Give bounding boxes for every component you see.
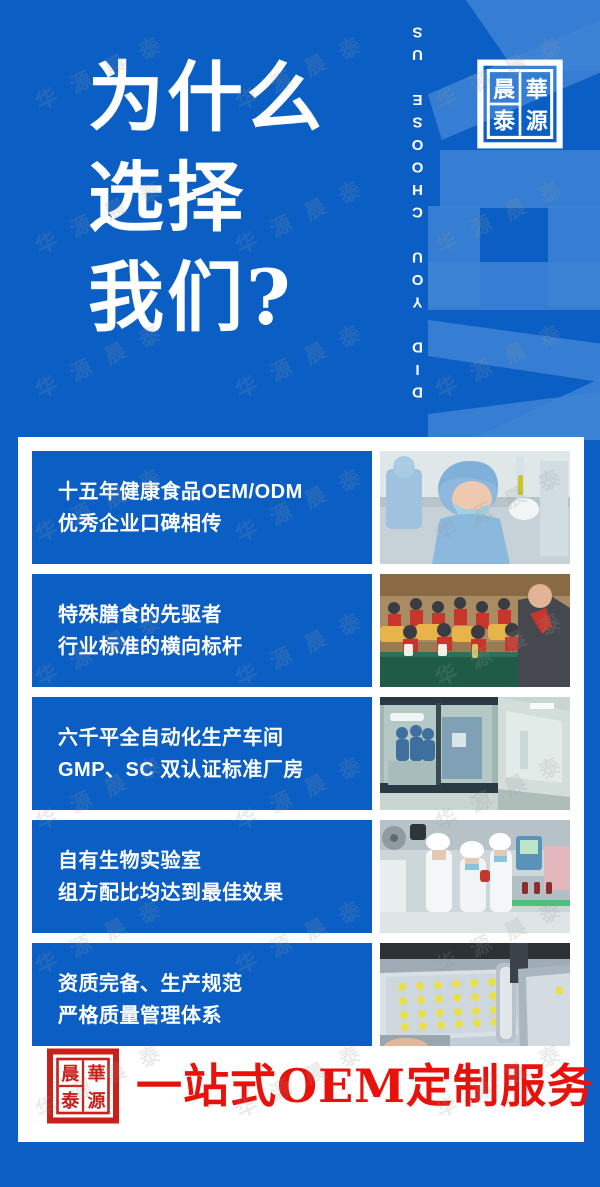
feature-card-text: 特殊膳食的先驱者 行业标准的横向标杆: [32, 574, 372, 687]
workers-at-packaging-line-photo: [380, 820, 570, 933]
vertical-subtitle: DID YOU CHOOSE US: [404, 18, 430, 410]
cta-banner[interactable]: 晨 泰 華 源 一站式OEM定制服务: [32, 1046, 570, 1126]
svg-text:泰: 泰: [60, 1090, 80, 1112]
headline-line-1: 为什么: [88, 48, 388, 148]
svg-text:源: 源: [88, 1090, 106, 1112]
feature-card-text: 自有生物实验室 组方配比均达到最佳效果: [32, 820, 372, 933]
feature-line: GMP、SC 双认证标准厂房: [58, 754, 372, 786]
cta-banner-text: 一站式OEM定制服务: [136, 1063, 594, 1109]
poster-root: 为什么 选择 我们? DID YOU CHOOSE US 晨 泰 華 源: [0, 0, 600, 1187]
page-title: 为什么 选择 我们?: [88, 48, 388, 348]
svg-text:源: 源: [526, 109, 548, 135]
svg-text:晨: 晨: [61, 1064, 80, 1085]
vertical-subtitle-text: DID YOU CHOOSE US: [409, 18, 426, 401]
lab-technician-inspecting-vial-photo: [380, 451, 570, 564]
clean-room-production-corridor-photo: [380, 697, 570, 810]
feature-line: 优秀企业口碑相传: [58, 508, 372, 540]
feature-card-list: 十五年健康食品OEM/ODM 优秀企业口碑相传: [32, 451, 570, 1056]
feature-line: 十五年健康食品OEM/ODM: [58, 476, 372, 508]
content-panel: 十五年健康食品OEM/ODM 优秀企业口碑相传: [18, 437, 584, 1142]
feature-line: 组方配比均达到最佳效果: [58, 877, 372, 909]
svg-text:泰: 泰: [492, 109, 516, 135]
feature-card-text: 六千平全自动化生产车间 GMP、SC 双认证标准厂房: [32, 697, 372, 810]
feature-card-text: 十五年健康食品OEM/ODM 优秀企业口碑相传: [32, 451, 372, 564]
feature-line: 特殊膳食的先驱者: [58, 599, 372, 631]
feature-card[interactable]: 资质完备、生产规范 严格质量管理体系: [32, 943, 570, 1056]
tablet-blister-packing-machine-photo: [380, 943, 570, 1056]
conference-audience-hall-photo: [380, 574, 570, 687]
feature-line: 资质完备、生产规范: [58, 968, 372, 1000]
headline-line-3: 我们?: [88, 248, 388, 348]
feature-card[interactable]: 六千平全自动化生产车间 GMP、SC 双认证标准厂房: [32, 697, 570, 810]
header-section: 为什么 选择 我们? DID YOU CHOOSE US 晨 泰 華 源: [0, 0, 600, 437]
svg-text:華: 華: [88, 1063, 106, 1085]
headline-line-2: 选择: [88, 148, 388, 248]
brand-seal-red-icon: 晨 泰 華 源: [44, 1047, 122, 1125]
feature-card[interactable]: 自有生物实验室 组方配比均达到最佳效果: [32, 820, 570, 933]
feature-line: 自有生物实验室: [58, 845, 372, 877]
feature-line: 六千平全自动化生产车间: [58, 722, 372, 754]
brand-seal-white-icon: 晨 泰 華 源: [476, 58, 564, 150]
feature-card-text: 资质完备、生产规范 严格质量管理体系: [32, 943, 372, 1056]
feature-card[interactable]: 十五年健康食品OEM/ODM 优秀企业口碑相传: [32, 451, 570, 564]
feature-card[interactable]: 特殊膳食的先驱者 行业标准的横向标杆: [32, 574, 570, 687]
feature-line: 严格质量管理体系: [58, 1000, 372, 1032]
svg-text:華: 華: [526, 77, 548, 103]
svg-text:晨: 晨: [493, 77, 516, 103]
feature-line: 行业标准的横向标杆: [58, 631, 372, 663]
